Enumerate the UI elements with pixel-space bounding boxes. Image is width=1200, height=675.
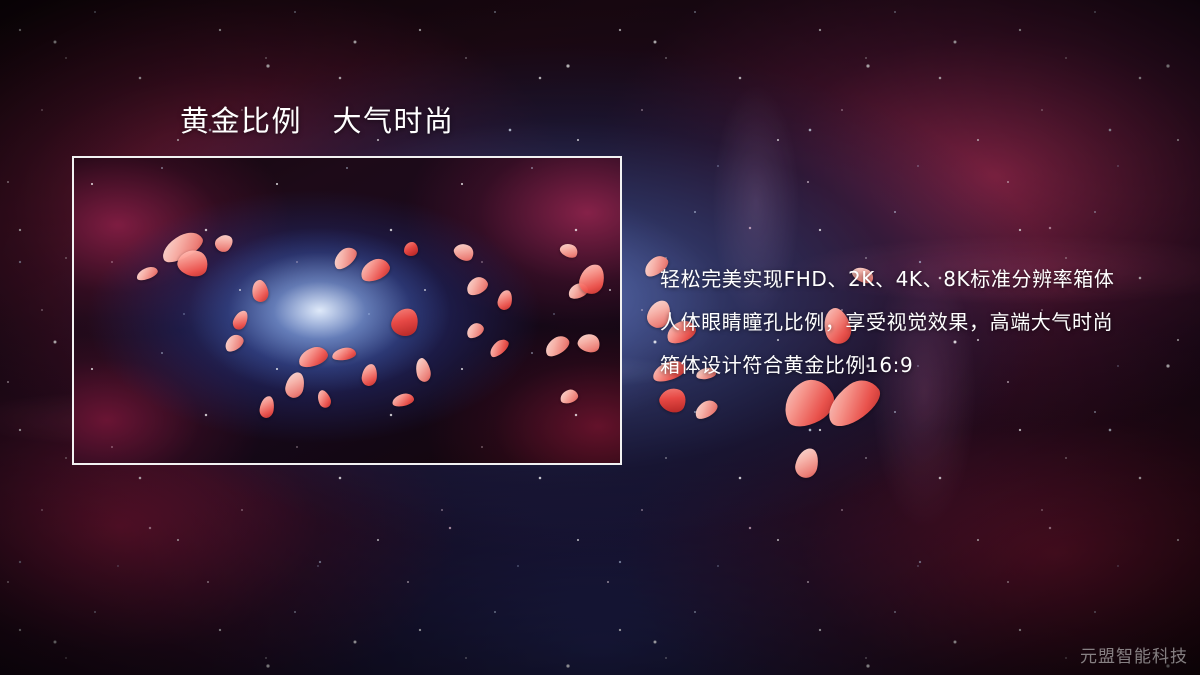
photo-inner-canvas [74,158,620,463]
petal [656,384,690,417]
body-copy-block: 轻松完美实现FHD、2K、4K、8K标准分辨率箱体 人体眼睛瞳孔比例，享受视觉效… [660,258,1160,387]
presentation-slide: 黄金比例 大气时尚 [0,0,1200,675]
petal [793,446,821,480]
photo-starfield [74,158,620,463]
watermark-brand: 元盟智能科技 [1080,642,1188,667]
petal [404,242,418,256]
slide-title: 黄金比例 大气时尚 [180,103,455,139]
body-line-2: 人体眼睛瞳孔比例，享受视觉效果，高端大气时尚 [660,301,1160,344]
petal [692,397,720,422]
framed-nebula-photo [72,156,622,465]
body-line-1: 轻松完美实现FHD、2K、4K、8K标准分辨率箱体 [660,258,1160,301]
body-line-3: 箱体设计符合黄金比例16:9 [660,344,1160,387]
